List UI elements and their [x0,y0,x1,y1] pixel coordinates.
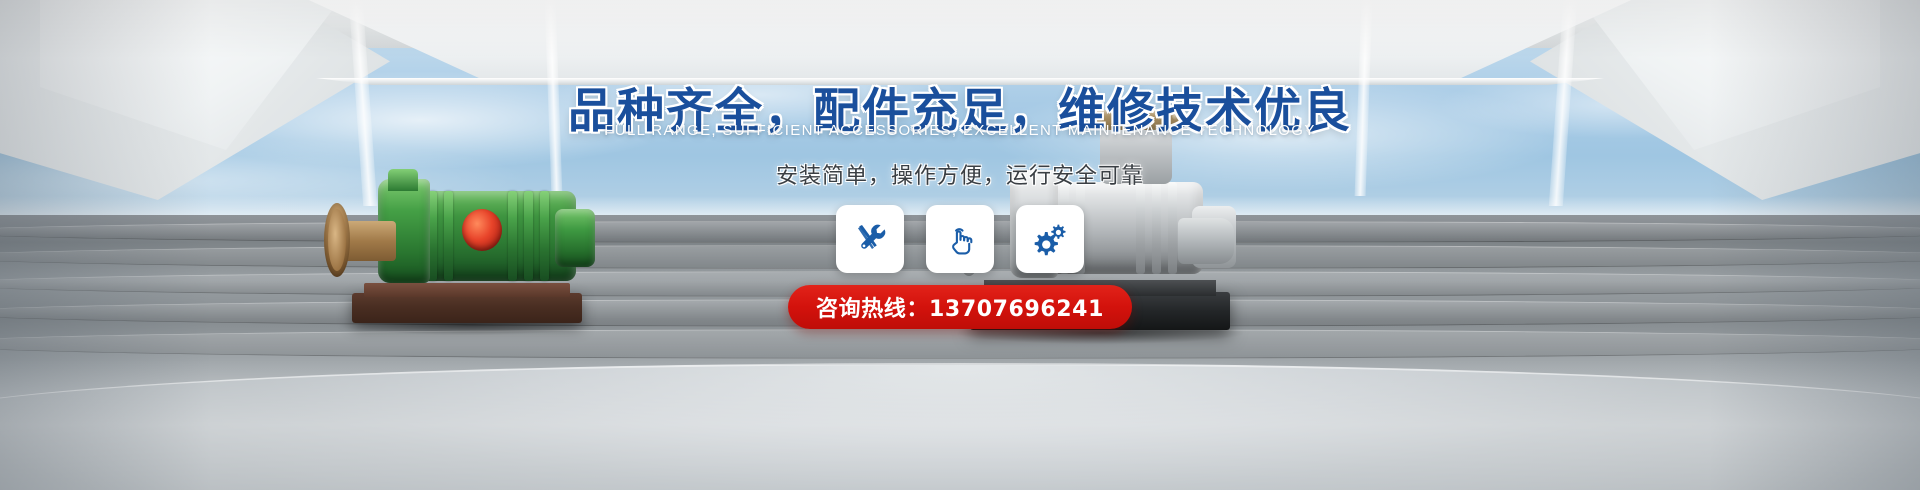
hotline-badge[interactable]: 咨询热线：13707696241 [788,285,1132,329]
promo-banner: 品种齐全，配件充足，维修技术优良 FULL RANGE, SUFFICIENT … [0,0,1920,490]
tools-icon [853,222,887,256]
hand-tap-icon [943,222,977,256]
banner-content: 品种齐全，配件充足，维修技术优良 FULL RANGE, SUFFICIENT … [0,0,1920,490]
banner-subtitle-english: FULL RANGE, SUFFICIENT ACCESSORIES, EXCE… [0,122,1920,139]
hotline-text: 咨询热线：13707696241 [816,291,1104,323]
gears-icon [1033,222,1067,256]
feature-icon-row [0,205,1920,273]
feature-item-maintenance-tools[interactable] [836,205,904,273]
feature-item-easy-operation[interactable] [926,205,994,273]
feature-item-reliable-running[interactable] [1016,205,1084,273]
banner-subtitle-chinese: 安装简单，操作方便，运行安全可靠 [0,158,1920,190]
